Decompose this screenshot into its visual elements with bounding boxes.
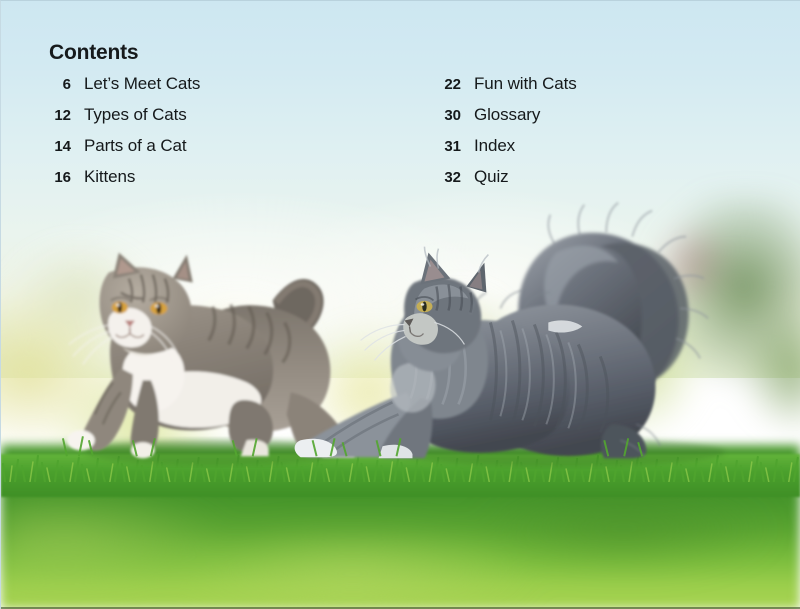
contents-section: Contents 6 Let’s Meet Cats 12 Types of C… — [49, 41, 760, 198]
page-title: Contents — [49, 41, 760, 65]
contents-entry-label: Types of Cats — [84, 105, 187, 125]
contents-entry-page: 14 — [49, 138, 71, 155]
contents-entry[interactable]: 6 Let’s Meet Cats — [49, 74, 439, 105]
brown-white-tabby-cat — [67, 253, 355, 459]
contents-entry-page: 22 — [439, 76, 461, 93]
contents-column-right: 22 Fun with Cats 30 Glossary 31 Index 32… — [439, 74, 577, 198]
contents-columns: 6 Let’s Meet Cats 12 Types of Cats 14 Pa… — [49, 74, 760, 198]
contents-entry-page: 12 — [49, 107, 71, 124]
gray-longhair-cat — [295, 203, 708, 459]
contents-entry-page: 31 — [439, 138, 461, 155]
contents-entry-label: Quiz — [474, 167, 509, 187]
contents-entry[interactable]: 14 Parts of a Cat — [49, 136, 439, 167]
contents-entry[interactable]: 16 Kittens — [49, 167, 439, 198]
contents-entry-page: 32 — [439, 169, 461, 186]
contents-entry-page: 6 — [49, 76, 71, 93]
contents-entry-label: Parts of a Cat — [84, 136, 187, 156]
contents-entry-label: Let’s Meet Cats — [84, 74, 200, 94]
contents-entry-label: Fun with Cats — [474, 74, 577, 94]
contents-entry-label: Glossary — [474, 105, 540, 125]
contents-entry-label: Kittens — [84, 167, 135, 187]
contents-entry-page: 16 — [49, 169, 71, 186]
contents-entry-label: Index — [474, 136, 515, 156]
book-contents-page: Contents 6 Let’s Meet Cats 12 Types of C… — [0, 0, 800, 609]
contents-entry[interactable]: 32 Quiz — [439, 167, 577, 198]
contents-entry-page: 30 — [439, 107, 461, 124]
contents-entry[interactable]: 12 Types of Cats — [49, 105, 439, 136]
contents-entry[interactable]: 30 Glossary — [439, 105, 577, 136]
contents-entry[interactable]: 22 Fun with Cats — [439, 74, 577, 105]
contents-column-left: 6 Let’s Meet Cats 12 Types of Cats 14 Pa… — [49, 74, 439, 198]
contents-entry[interactable]: 31 Index — [439, 136, 577, 167]
